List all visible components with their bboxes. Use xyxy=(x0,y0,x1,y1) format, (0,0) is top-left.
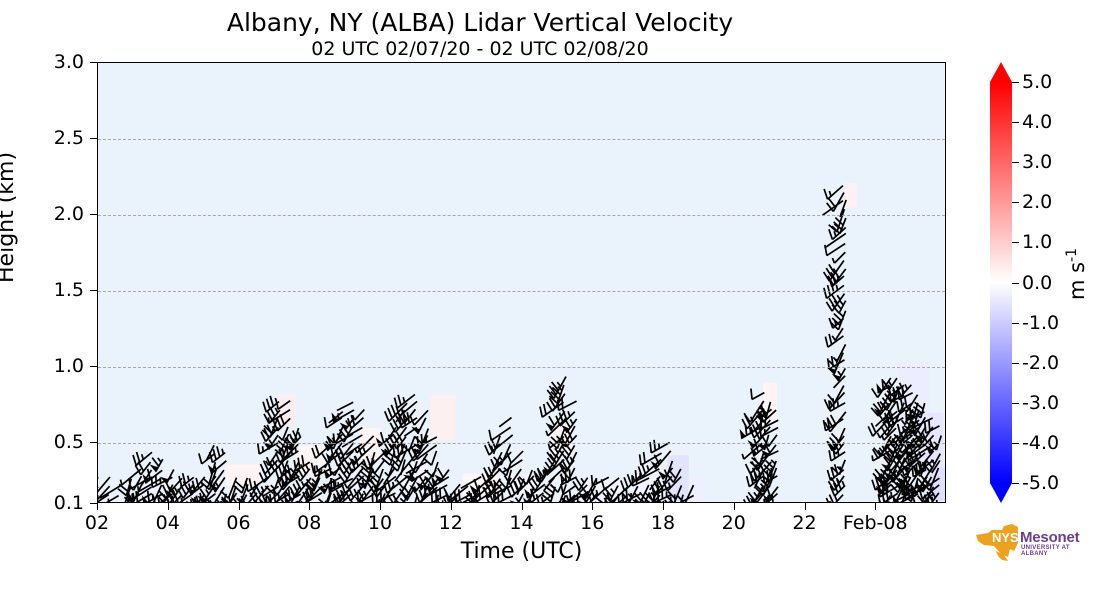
wind-barb xyxy=(176,469,194,486)
x-tick-label: 08 xyxy=(297,512,321,534)
colorbar-tick-label: -3.0 xyxy=(1022,392,1059,414)
nys-mesonet-logo: NYS Mesonet UNIVERSITY AT ALBANY xyxy=(968,521,1096,571)
wind-barb xyxy=(261,430,278,450)
logo-mesonet-text: Mesonet xyxy=(1020,529,1079,546)
chart-title: Albany, NY (ALBA) Lidar Vertical Velocit… xyxy=(0,8,960,37)
x-tick-mark xyxy=(592,503,593,510)
wind-barb xyxy=(504,444,523,463)
wind-barb xyxy=(486,419,511,440)
y-tick-mark xyxy=(90,503,97,504)
x-tick-mark xyxy=(239,503,240,510)
colorbar-tick-label: 0.0 xyxy=(1022,272,1052,294)
x-tick-label: 04 xyxy=(156,512,180,534)
x-tick-label: 16 xyxy=(580,512,604,534)
gridline-y xyxy=(98,139,945,140)
colorbar-unit-label: m s-1 xyxy=(1064,248,1089,300)
logo-nys-text: NYS xyxy=(992,530,1019,545)
colorbar-tick-mark xyxy=(1012,483,1019,484)
colorbar-unit-text: m s xyxy=(1065,262,1089,300)
wind-barb xyxy=(598,470,619,490)
x-tick-label: Feb-08 xyxy=(843,512,908,534)
x-tick-mark xyxy=(875,503,876,510)
wind-barbs-layer xyxy=(98,63,946,503)
colorbar-gradient xyxy=(990,82,1012,483)
colorbar-tick-label: 4.0 xyxy=(1022,111,1052,133)
x-tick-label: 06 xyxy=(226,512,250,534)
x-tick-label: 18 xyxy=(651,512,675,534)
wind-barb xyxy=(339,502,343,503)
wind-barb xyxy=(825,263,845,285)
wind-barb xyxy=(391,387,415,409)
x-tick-mark xyxy=(734,503,735,510)
gridline-y xyxy=(98,291,945,292)
x-tick-mark xyxy=(451,503,452,510)
y-tick-label: 0.5 xyxy=(0,431,84,453)
colorbar-tick-label: 3.0 xyxy=(1022,151,1052,173)
chart-subtitle: 02 UTC 02/07/20 - 02 UTC 02/08/20 xyxy=(0,38,960,60)
colorbar-tick-mark xyxy=(1012,283,1019,284)
wind-barb xyxy=(674,502,691,503)
wind-barb xyxy=(355,436,375,456)
colorbar-tick-label: -1.0 xyxy=(1022,312,1059,334)
y-tick-mark xyxy=(90,138,97,139)
y-tick-label: 1.0 xyxy=(0,355,84,377)
colorbar-tick-mark xyxy=(1012,202,1019,203)
wind-barb xyxy=(499,418,511,427)
x-tick-mark xyxy=(309,503,310,510)
colorbar-tick-mark xyxy=(1012,443,1019,444)
y-tick-mark xyxy=(90,442,97,443)
x-tick-mark xyxy=(805,503,806,510)
x-tick-label: 12 xyxy=(439,512,463,534)
colorbar-unit-exponent: -1 xyxy=(1064,248,1080,262)
wind-barb xyxy=(554,392,577,410)
wind-barb xyxy=(832,342,845,361)
plot-area[interactable] xyxy=(97,62,946,503)
wind-barb xyxy=(588,468,609,485)
gridline-y xyxy=(98,443,945,444)
y-tick-mark xyxy=(90,62,97,63)
colorbar-tick-label: -4.0 xyxy=(1022,432,1059,454)
colorbar-tick-mark xyxy=(1012,162,1019,163)
wind-barb xyxy=(825,188,844,212)
colorbar-tick-label: -2.0 xyxy=(1022,352,1059,374)
colorbar-tick-label: 1.0 xyxy=(1022,231,1052,253)
x-tick-mark xyxy=(380,503,381,510)
wind-barb xyxy=(821,178,843,199)
wind-barb xyxy=(747,384,764,400)
colorbar-tick-label: 5.0 xyxy=(1022,71,1052,93)
wind-barb xyxy=(497,459,511,476)
y-tick-mark xyxy=(90,214,97,215)
logo-subtitle-text: UNIVERSITY AT ALBANY xyxy=(1021,545,1096,557)
colorbar-extend-max-icon xyxy=(990,62,1012,82)
x-tick-label: 22 xyxy=(792,512,816,534)
x-tick-mark xyxy=(663,503,664,510)
colorbar-tick-mark xyxy=(1012,403,1019,404)
gridline-y xyxy=(98,215,945,216)
y-tick-label: 1.5 xyxy=(0,279,84,301)
colorbar-tick-mark xyxy=(1012,323,1019,324)
wind-barb xyxy=(316,499,333,503)
x-tick-mark xyxy=(522,503,523,510)
x-tick-mark xyxy=(168,503,169,510)
y-tick-label: 3.0 xyxy=(0,51,84,73)
wind-barb xyxy=(826,381,844,403)
colorbar-tick-label: 2.0 xyxy=(1022,191,1052,213)
x-tick-label: 10 xyxy=(368,512,392,534)
wind-barb xyxy=(130,445,152,466)
y-tick-mark xyxy=(90,366,97,367)
colorbar-tick-mark xyxy=(1012,122,1019,123)
x-tick-mark xyxy=(97,503,98,510)
y-tick-mark xyxy=(90,290,97,291)
colorbar-tick-mark xyxy=(1012,242,1019,243)
x-tick-label: 14 xyxy=(509,512,533,534)
colorbar-tick-mark xyxy=(1012,82,1019,83)
x-tick-label: 20 xyxy=(722,512,746,534)
plot-inner xyxy=(98,63,945,502)
colorbar-tick-mark xyxy=(1012,363,1019,364)
y-tick-label: 2.0 xyxy=(0,203,84,225)
colorbar-tick-label: -5.0 xyxy=(1022,472,1059,494)
wind-barb xyxy=(581,500,596,503)
colorbar[interactable]: 5.04.03.02.01.00.0-1.0-2.0-3.0-4.0-5.0 xyxy=(990,62,1012,503)
y-tick-label: 2.5 xyxy=(0,127,84,149)
x-axis-label: Time (UTC) xyxy=(97,539,946,564)
y-tick-label: 0.1 xyxy=(0,492,84,514)
figure-canvas: Albany, NY (ALBA) Lidar Vertical Velocit… xyxy=(0,0,1101,600)
colorbar-extend-min-icon xyxy=(990,483,1012,503)
x-tick-label: 02 xyxy=(85,512,109,534)
gridline-y xyxy=(98,367,945,368)
wind-barb xyxy=(337,402,353,410)
